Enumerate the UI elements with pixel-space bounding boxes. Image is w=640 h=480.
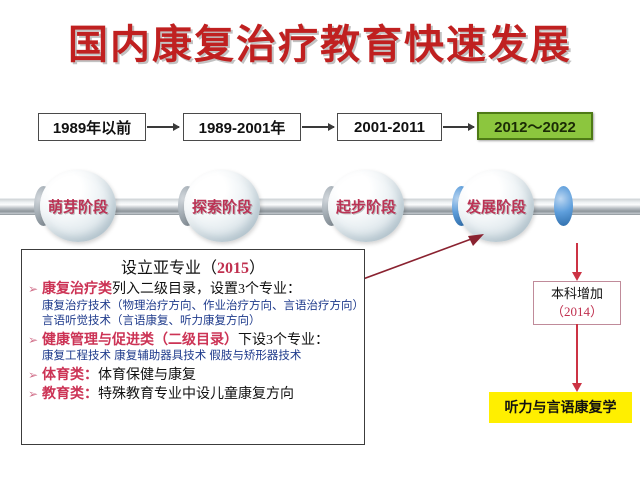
panel-bullet-1-highlight: 康复治疗类 [42,282,112,297]
undergrad-box-line1: 本科增加 [534,285,620,303]
era-arrow-2 [302,126,334,128]
stage-label-1: 萌芽阶段 [30,196,126,217]
era-box-2[interactable]: 1989-2001年 [183,113,301,141]
panel-bullet-4-text: 教育类：特殊教育专业中设儿童康复方向 [42,386,294,404]
era-arrow-1 [147,126,179,128]
era-arrow-3 [443,126,474,128]
arrow-to-highlight-box [576,324,578,384]
panel-bullet-1-subline-1: 康复治疗技术（物理治疗方向、作业治疗方向、言语治疗方向） [42,299,358,315]
bullet-arrow-icon: ➢ [28,386,42,402]
panel-bullet-3-highlight: 体育类： [42,368,98,383]
stage-label-2: 探索阶段 [174,196,270,217]
panel-bullet-2-subline-1: 康复工程技术 康复辅助器具技术 假肢与矫形器技术 [42,349,358,365]
panel-bullet-4-highlight: 教育类： [42,387,98,402]
panel-bullet-4-rest: 特殊教育专业中设儿童康复方向 [98,387,294,402]
panel-header-text: 设立亚专业（ [121,260,217,277]
sub-specialty-panel: 设立亚专业（2015） ➢ 康复治疗类列入二级目录，设置3个专业： 康复治疗技术… [21,249,365,445]
panel-bullet-1: ➢ 康复治疗类列入二级目录，设置3个专业： [28,281,358,299]
bullet-arrow-icon: ➢ [28,367,42,383]
era-box-1[interactable]: 1989年以前 [38,113,146,141]
bullet-arrow-icon: ➢ [28,281,42,297]
panel-bullet-4: ➢ 教育类：特殊教育专业中设儿童康复方向 [28,386,358,404]
panel-bullet-2-text: 健康管理与促进类（二级目录）下设3个专业： [42,332,329,350]
page-title: 国内康复治疗教育快速发展 [0,12,640,70]
panel-bullet-3: ➢ 体育类：体育保健与康复 [28,367,358,385]
highlight-major-box[interactable]: 听力与言语康复学 [489,392,632,423]
panel-bullet-2-highlight: 健康管理与促进类（二级目录） [42,333,238,348]
panel-bullet-1-rest: 列入二级目录，设置3个专业： [112,282,301,297]
undergrad-addition-box[interactable]: 本科增加 （2014） [533,281,621,325]
stage-label-3: 起步阶段 [318,196,414,217]
panel-bullet-2-rest: 下设3个专业： [238,333,329,348]
panel-bullet-3-rest: 体育保健与康复 [98,368,196,383]
stage-label-4: 发展阶段 [448,196,544,217]
era-box-4[interactable]: 2012～2022 [477,112,593,140]
bead-collar-4-right [554,186,573,226]
panel-bullet-1-subline-2: 言语听觉技术（言语康复、听力康复方向） [42,314,358,330]
panel-header-close: ） [249,260,265,277]
panel-bullet-3-text: 体育类：体育保健与康复 [42,367,196,385]
bullet-arrow-icon: ➢ [28,332,42,348]
undergrad-box-year: （2014） [534,303,620,321]
panel-header: 设立亚专业（2015） [28,254,358,278]
era-box-3[interactable]: 2001-2011 [337,113,442,141]
panel-header-year: 2015 [217,260,249,277]
panel-bullet-1-text: 康复治疗类列入二级目录，设置3个专业： [42,281,301,299]
panel-bullet-2: ➢ 健康管理与促进类（二级目录）下设3个专业： [28,332,358,350]
arrow-to-undergrad-box [576,243,578,273]
